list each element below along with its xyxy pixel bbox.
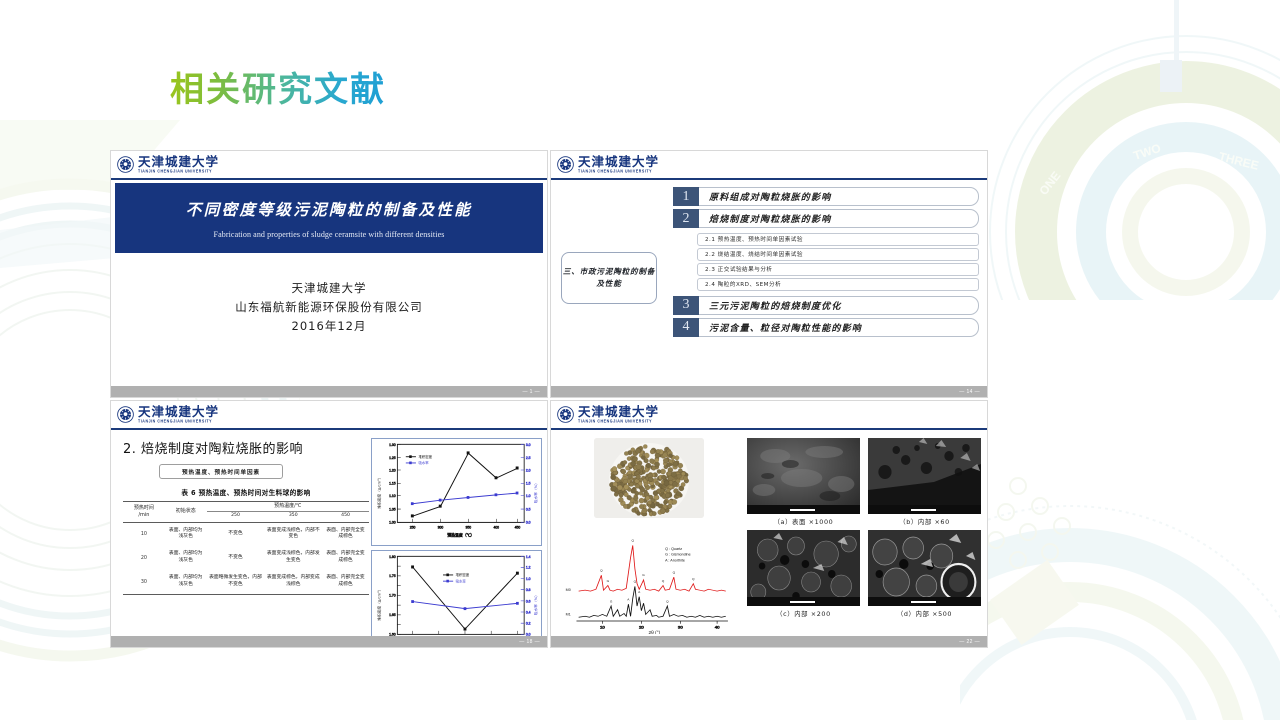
svg-text:1.00: 1.00 <box>389 521 396 525</box>
slide-sem-xrd[interactable]: 天津城建大学 TIANJIN CHENGJIAN UNIVERSITY <box>550 400 988 648</box>
svg-text:1.0: 1.0 <box>526 577 531 581</box>
cover-title-band: 不同密度等级污泥陶粒的制备及性能 Fabrication and propert… <box>115 183 543 253</box>
university-seal-icon <box>117 156 134 173</box>
sem-scalebar-c <box>790 601 815 603</box>
page-title: 相关研究文献 <box>170 62 386 111</box>
svg-text:堆积密度（g/cm³）: 堆积密度（g/cm³） <box>376 588 381 621</box>
sem-cell-d: （d）内部 ×500 <box>868 530 981 618</box>
sem-scalebar-b <box>911 509 936 511</box>
svg-text:A: A <box>638 590 640 594</box>
svg-text:Q: Q <box>662 579 665 583</box>
svg-text:20: 20 <box>639 625 645 630</box>
outline-sub-item-2-1[interactable]: 2.1 预热温度、预热时间单因素试验 <box>697 233 979 246</box>
preheat-table: 预热时间/min 初始状态 预热温度/℃ 250 350 450 10 表面、内… <box>123 501 369 595</box>
slide-cover-body: 不同密度等级污泥陶粒的制备及性能 Fabrication and propert… <box>111 180 547 386</box>
cell-time-3: 30 <box>123 570 165 594</box>
sem-cell-a: （a）表面 ×1000 <box>747 438 860 526</box>
svg-text:堆积密度（g/cm³）: 堆积密度（g/cm³） <box>376 476 381 509</box>
svg-text:1.5: 1.5 <box>526 482 531 486</box>
svg-text:2.0: 2.0 <box>526 468 531 472</box>
slide-header: 天津城建大学 TIANJIN CHENGJIAN UNIVERSITY <box>111 151 547 180</box>
slide-grid: 天津城建大学 TIANJIN CHENGJIAN UNIVERSITY 不同密度… <box>110 150 988 648</box>
page-number: — 1 — <box>522 389 540 395</box>
university-seal-icon <box>557 156 574 173</box>
outline-sub-item-2-3[interactable]: 2.3 正交试验结果与分析 <box>697 263 979 276</box>
university-logo: 天津城建大学 TIANJIN CHENGJIAN UNIVERSITY <box>557 406 659 424</box>
logo-text-en: TIANJIN CHENGJIAN UNIVERSITY <box>138 170 219 174</box>
table-col-250: 250 <box>207 511 265 522</box>
svg-text:Q: Q <box>666 600 669 604</box>
slide-header: 天津城建大学 TIANJIN CHENGJIAN UNIVERSITY <box>111 401 547 430</box>
svg-text:3.0: 3.0 <box>526 443 531 447</box>
svg-text:0.8: 0.8 <box>526 588 531 592</box>
svg-text:1.20: 1.20 <box>389 468 396 472</box>
table-row: 20 表面、内部均为浅灰色 不变色 表面变成浅棕色，内部发生变色 表面、内部完全… <box>123 546 369 570</box>
svg-text:Q: Q <box>692 577 695 581</box>
svg-text:预热温度（℃）: 预热温度（℃） <box>447 532 474 537</box>
svg-text:450: 450 <box>515 526 521 530</box>
table-col-350: 350 <box>264 511 322 522</box>
sem-image-c <box>747 530 860 606</box>
svg-text:300: 300 <box>438 526 444 530</box>
svg-text:吸水率（%）: 吸水率（%） <box>533 594 538 616</box>
svg-text:1.0: 1.0 <box>526 494 531 498</box>
svg-text:1.15: 1.15 <box>389 482 396 486</box>
outline-sub-item-list: 2.1 预热温度、预热时间单因素试验 2.2 烧结温度、烧结时间单因素试验 2.… <box>697 233 979 291</box>
svg-text:30: 30 <box>678 625 684 630</box>
ceramsite-photo <box>594 438 704 518</box>
cell-350-1: 表面变成浅棕色，内部不变色 <box>264 522 322 546</box>
slide-footer: — 22 — <box>551 636 987 647</box>
svg-text:1.75: 1.75 <box>389 575 396 579</box>
outline-sub-item-2-2[interactable]: 2.2 烧结温度、烧结时间单因素试验 <box>697 248 979 261</box>
cell-initial-1: 表面、内部均为浅灰色 <box>165 522 207 546</box>
calcination-tag: 预热温度、预热时间单因素 <box>159 464 283 479</box>
sem-caption-d: （d）内部 ×500 <box>868 609 981 618</box>
logo-text-en: TIANJIN CHENGJIAN UNIVERSITY <box>138 420 219 424</box>
sem-caption-c: （c）内部 ×200 <box>747 609 860 618</box>
sem-image-grid: （a）表面 ×1000 <box>747 435 981 634</box>
svg-text:G: G <box>607 579 610 583</box>
cover-date: 2016年12月 <box>111 317 547 336</box>
logo-text-cn: 天津城建大学 <box>138 156 219 169</box>
outline-section-box: 三、市政污泥陶粒的制备及性能 <box>561 252 657 304</box>
svg-text:Q: Q <box>673 571 676 575</box>
svg-text:2.5: 2.5 <box>526 456 531 460</box>
table-col-time: 预热时间/min <box>123 502 165 523</box>
logo-text-en: TIANJIN CHENGJIAN UNIVERSITY <box>578 420 659 424</box>
xrd-legend-a: A : Anorthite <box>665 559 685 563</box>
sem-scalebar-a <box>790 509 815 511</box>
cell-450-1: 表面、内部完全变成棕色 <box>322 522 369 546</box>
cell-250-2: 不变色 <box>207 546 265 570</box>
svg-text:0.2: 0.2 <box>526 622 531 626</box>
svg-text:Q: Q <box>631 539 634 543</box>
table-col-450: 450 <box>322 511 369 522</box>
slide-calcination[interactable]: 天津城建大学 TIANJIN CHENGJIAN UNIVERSITY 2. 焙… <box>110 400 548 648</box>
svg-text:Q: Q <box>600 569 603 573</box>
page-number: — 22 — <box>959 639 980 645</box>
slide-header: 天津城建大学 TIANJIN CHENGJIAN UNIVERSITY <box>551 401 987 430</box>
table-caption: 表 6 预热温度、预热时间对生料球的影响 <box>123 487 369 497</box>
outline-item-4[interactable]: 4 污泥含量、粒径对陶粒性能的影响 <box>673 318 979 337</box>
cell-450-3: 表面、内部完全变成棕色 <box>322 570 369 594</box>
svg-text:0.0: 0.0 <box>526 521 531 525</box>
logo-text-cn: 天津城建大学 <box>138 406 219 419</box>
svg-text:1.70: 1.70 <box>389 594 396 598</box>
sem-cell-b: （b）内部 ×60 <box>868 438 981 526</box>
svg-text:1.25: 1.25 <box>389 456 396 460</box>
svg-text:G: G <box>642 573 645 577</box>
deco-word-one: ONE <box>1036 169 1063 198</box>
svg-text:吸水率: 吸水率 <box>418 460 429 465</box>
svg-text:350: 350 <box>465 526 471 530</box>
svg-text:M1: M1 <box>566 613 571 617</box>
university-seal-icon <box>117 406 134 423</box>
svg-text:1.80: 1.80 <box>389 555 396 559</box>
cell-350-2: 表面变成浅棕色，内部发生变色 <box>264 546 322 570</box>
cell-450-2: 表面、内部完全变成棕色 <box>322 546 369 570</box>
outline-item-2-label: 焙烧制度对陶粒烧胀的影响 <box>699 209 979 228</box>
cell-time-2: 20 <box>123 546 165 570</box>
outline-item-2-number: 2 <box>673 209 699 228</box>
svg-text:1.60: 1.60 <box>389 633 396 636</box>
svg-text:堆积密度: 堆积密度 <box>456 573 470 578</box>
svg-text:G: G <box>610 600 613 604</box>
svg-text:1.4: 1.4 <box>526 555 531 559</box>
cell-initial-3: 表面、内部均为浅灰色 <box>165 570 207 594</box>
svg-text:0.5: 0.5 <box>526 507 531 511</box>
slide-footer: — 14 — <box>551 386 987 397</box>
outline-item-2[interactable]: 2 焙烧制度对陶粒烧胀的影响 <box>673 209 979 228</box>
logo-text-en: TIANJIN CHENGJIAN UNIVERSITY <box>578 170 659 174</box>
cell-time-1: 10 <box>123 522 165 546</box>
slide-header: 天津城建大学 TIANJIN CHENGJIAN UNIVERSITY <box>551 151 987 180</box>
xrd-legend-q: Q : Quartz <box>665 547 682 551</box>
sem-image-b <box>868 438 981 514</box>
svg-text:1.30: 1.30 <box>389 443 396 447</box>
table-header-row: 预热时间/min 初始状态 预热温度/℃ <box>123 502 369 512</box>
sem-caption-a: （a）表面 ×1000 <box>747 517 860 526</box>
svg-text:40: 40 <box>715 625 721 630</box>
slide-footer: — 18 — <box>111 636 547 647</box>
cover-affiliation-2: 山东福航新能源环保股份有限公司 <box>111 298 547 317</box>
preheat-temperature-chart: 1.00 1.05 1.10 1.15 1.20 1.25 1.30 <box>371 438 542 546</box>
outline-item-4-label: 污泥含量、粒径对陶粒性能的影响 <box>699 318 979 337</box>
calcination-heading: 2. 焙烧制度对陶粒烧胀的影响 <box>123 438 369 457</box>
svg-text:2θ (°): 2θ (°) <box>649 630 661 634</box>
cover-title-cn: 不同密度等级污泥陶粒的制备及性能 <box>186 198 472 220</box>
svg-text:堆积密度: 堆积密度 <box>418 454 432 459</box>
outline-item-3-number: 3 <box>673 296 699 315</box>
deco-word-two: TWO <box>1132 141 1163 163</box>
svg-text:0.6: 0.6 <box>526 600 531 604</box>
svg-text:1.65: 1.65 <box>389 614 396 618</box>
sem-scalebar-d <box>911 601 936 603</box>
cell-250-3: 表面略微发生变色，内部不变色 <box>207 570 265 594</box>
university-logo: 天津城建大学 TIANJIN CHENGJIAN UNIVERSITY <box>117 156 219 174</box>
svg-text:250: 250 <box>410 526 416 530</box>
svg-text:1.05: 1.05 <box>389 507 396 511</box>
slide-sem-xrd-body: 1020 3040 2θ (°) M0 M1 <box>551 430 987 636</box>
cover-title-en: Fabrication and properties of sludge cer… <box>214 230 445 239</box>
table-col-initial: 初始状态 <box>165 502 207 523</box>
svg-text:吸水率（%）: 吸水率（%） <box>533 481 538 503</box>
svg-text:M0: M0 <box>566 588 571 592</box>
svg-text:1.2: 1.2 <box>526 566 531 570</box>
university-seal-icon <box>557 406 574 423</box>
university-logo: 天津城建大学 TIANJIN CHENGJIAN UNIVERSITY <box>117 406 219 424</box>
sem-image-a <box>747 438 860 514</box>
cover-info: 天津城建大学 山东福航新能源环保股份有限公司 2016年12月 <box>111 279 547 336</box>
cell-250-1: 不变色 <box>207 522 265 546</box>
outline-item-1[interactable]: 1 原料组成对陶粒烧胀的影响 <box>673 187 979 206</box>
xrd-legend-g: G : Gismondine <box>665 553 691 557</box>
deco-word-three: THREE <box>1217 149 1260 172</box>
sem-image-d <box>868 530 981 606</box>
university-logo: 天津城建大学 TIANJIN CHENGJIAN UNIVERSITY <box>557 156 659 174</box>
table-col-group: 预热温度/℃ <box>207 502 369 512</box>
svg-text:0.4: 0.4 <box>526 611 531 615</box>
outline-item-4-number: 4 <box>673 318 699 337</box>
logo-text-cn: 天津城建大学 <box>578 156 659 169</box>
table-row: 30 表面、内部均为浅灰色 表面略微发生变色，内部不变色 表面变成棕色，内部变成… <box>123 570 369 594</box>
slide-calcination-body: 2. 焙烧制度对陶粒烧胀的影响 预热温度、预热时间单因素 表 6 预热温度、预热… <box>111 430 547 636</box>
table-row: 10 表面、内部均为浅灰色 不变色 表面变成浅棕色，内部不变色 表面、内部完全变… <box>123 522 369 546</box>
cover-affiliation-1: 天津城建大学 <box>111 279 547 298</box>
svg-text:400: 400 <box>493 526 499 530</box>
svg-text:A: A <box>627 598 629 602</box>
svg-text:吸水率: 吸水率 <box>456 579 467 584</box>
page-number: — 18 — <box>519 639 540 645</box>
page-number: — 14 — <box>959 389 980 395</box>
sem-caption-b: （b）内部 ×60 <box>868 517 981 526</box>
xrd-pattern: 1020 3040 2θ (°) M0 M1 <box>557 524 741 634</box>
preheat-time-chart: 1.60 1.65 1.70 1.75 1.80 0.00.2 0.40.6 0… <box>371 550 542 636</box>
svg-text:10: 10 <box>600 625 606 630</box>
sem-cell-c: （c）内部 ×200 <box>747 530 860 618</box>
logo-text-cn: 天津城建大学 <box>578 406 659 419</box>
outline-item-1-number: 1 <box>673 187 699 206</box>
outline-sub-item-2-4[interactable]: 2.4 陶粒的XRD、SEM分析 <box>697 278 979 291</box>
outline-item-3[interactable]: 3 三元污泥陶粒的焙烧制度优化 <box>673 296 979 315</box>
outline-item-3-label: 三元污泥陶粒的焙烧制度优化 <box>699 296 979 315</box>
cell-initial-2: 表面、内部均为浅灰色 <box>165 546 207 570</box>
svg-text:0.0: 0.0 <box>526 633 531 636</box>
svg-text:1.10: 1.10 <box>389 494 396 498</box>
outline-item-1-label: 原料组成对陶粒烧胀的影响 <box>699 187 979 206</box>
slide-outline[interactable]: 天津城建大学 TIANJIN CHENGJIAN UNIVERSITY 三、市政… <box>550 150 988 398</box>
slide-outline-body: 三、市政污泥陶粒的制备及性能 1 原料组成对陶粒烧胀的影响 2 焙烧制度对陶粒烧… <box>551 180 987 386</box>
cell-350-3: 表面变成棕色，内部变成浅棕色 <box>264 570 322 594</box>
slide-cover[interactable]: 天津城建大学 TIANJIN CHENGJIAN UNIVERSITY 不同密度… <box>110 150 548 398</box>
slide-footer: — 1 — <box>111 386 547 397</box>
